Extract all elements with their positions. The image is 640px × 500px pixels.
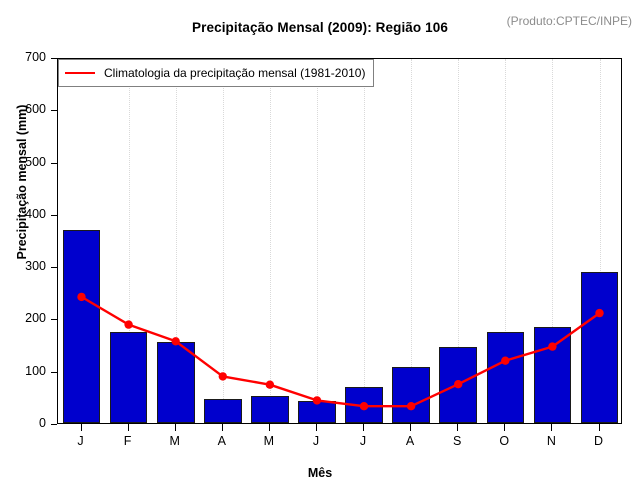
climatology-marker-m-4 — [266, 381, 274, 389]
y-tick-label: 700 — [4, 51, 46, 64]
y-tick-mark — [51, 215, 57, 216]
y-axis-label: Precipitação mensal (mm) — [15, 67, 29, 297]
climatology-marker-j-0 — [77, 293, 85, 301]
climatology-line-series — [58, 59, 622, 424]
plot-area — [57, 58, 622, 424]
x-tick-mark — [128, 424, 129, 431]
climatology-marker-a-7 — [407, 402, 415, 410]
y-tick-label: 100 — [4, 365, 46, 378]
x-tick-label-11: D — [584, 434, 614, 448]
legend-line-swatch — [65, 72, 95, 74]
legend: Climatologia da precipitação mensal (198… — [58, 59, 374, 87]
x-tick-mark — [269, 424, 270, 431]
x-tick-mark — [410, 424, 411, 431]
climatology-marker-n-10 — [548, 342, 556, 350]
climatology-marker-f-1 — [124, 320, 132, 328]
y-tick-mark — [51, 372, 57, 373]
climatology-marker-d-11 — [595, 309, 603, 317]
producer-annotation: (Produto:CPTEC/INPE) — [507, 14, 632, 28]
climatology-line — [82, 297, 600, 406]
y-tick-mark — [51, 163, 57, 164]
x-tick-label-8: S — [442, 434, 472, 448]
x-tick-mark — [363, 424, 364, 431]
x-tick-mark — [316, 424, 317, 431]
climatology-marker-m-2 — [172, 337, 180, 345]
x-tick-label-2: M — [160, 434, 190, 448]
x-tick-label-7: A — [395, 434, 425, 448]
x-tick-label-10: N — [536, 434, 566, 448]
y-tick-mark — [51, 267, 57, 268]
x-tick-label-1: F — [113, 434, 143, 448]
climatology-marker-s-8 — [454, 380, 462, 388]
x-tick-label-6: J — [348, 434, 378, 448]
y-tick-label: 0 — [4, 417, 46, 430]
x-tick-label-3: A — [207, 434, 237, 448]
chart-figure: Precipitação Mensal (2009): Região 106 0… — [0, 0, 640, 500]
legend-item-label: Climatologia da precipitação mensal (198… — [104, 66, 365, 80]
climatology-marker-j-6 — [360, 402, 368, 410]
x-tick-mark — [81, 424, 82, 431]
y-tick-mark — [51, 58, 57, 59]
climatology-marker-a-3 — [219, 372, 227, 380]
x-tick-mark — [551, 424, 552, 431]
x-tick-mark — [599, 424, 600, 431]
y-tick-label: 200 — [4, 312, 46, 325]
x-tick-mark — [222, 424, 223, 431]
x-tick-mark — [175, 424, 176, 431]
x-tick-mark — [504, 424, 505, 431]
x-axis-label: Mês — [0, 466, 640, 480]
x-tick-label-0: J — [66, 434, 96, 448]
climatology-marker-j-5 — [313, 396, 321, 404]
x-tick-label-4: M — [254, 434, 284, 448]
x-tick-label-9: O — [489, 434, 519, 448]
y-tick-mark — [51, 424, 57, 425]
y-tick-mark — [51, 110, 57, 111]
climatology-marker-o-9 — [501, 357, 509, 365]
y-tick-mark — [51, 319, 57, 320]
x-tick-label-5: J — [301, 434, 331, 448]
x-tick-mark — [457, 424, 458, 431]
